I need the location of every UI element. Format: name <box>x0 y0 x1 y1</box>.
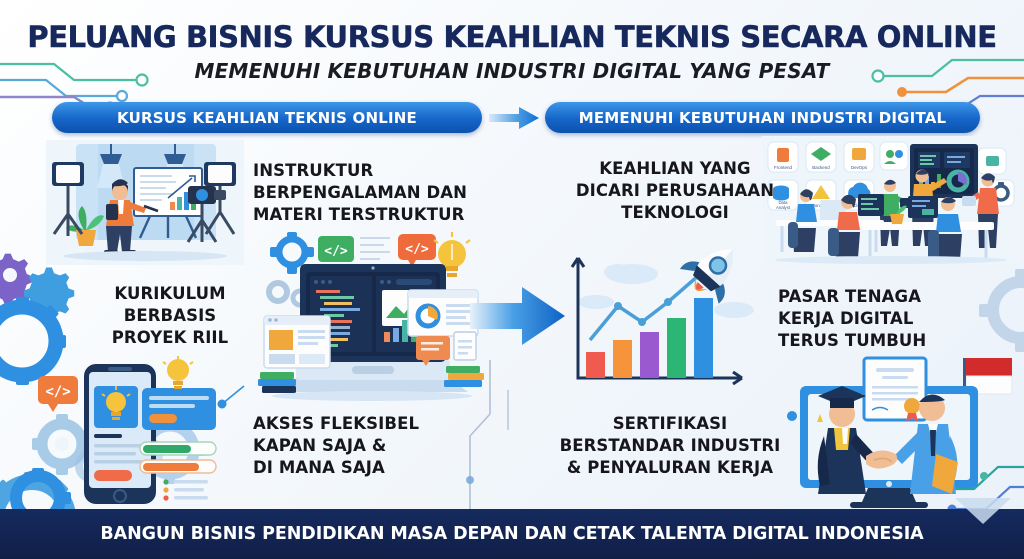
svg-text:</>: </> <box>405 242 429 257</box>
page-subtitle: MEMENUHI KEBUTUHAN INDUSTRI DIGITAL YANG… <box>0 59 1024 83</box>
pill-kursus-keahlian-teknis-online[interactable]: KURSUS KEAHLIAN TEKNIS ONLINE <box>52 102 482 133</box>
svg-text:Analyst: Analyst <box>776 205 791 210</box>
chart-bars <box>586 298 713 378</box>
gear-decor-right <box>975 265 1024 355</box>
callout-keahlian-dicari: KEAHLIAN YANG DICARI PERUSAHAAN TEKNOLOG… <box>575 158 775 224</box>
growth-chart-rocket-illustration <box>556 240 786 400</box>
graduate-handshake-certificate-illustration <box>788 356 1016 508</box>
callout-kurikulum: KURIKULUM BERBASIS PROYEK RIIL <box>95 283 245 349</box>
page-title: PELUANG BISNIS KURSUS KEAHLIAN TEKNIS SE… <box>0 20 1024 54</box>
footer-banner: BANGUN BISNIS PENDIDIKAN MASA DEPAN DAN … <box>0 509 1024 559</box>
footer-text: BANGUN BISNIS PENDIDIKAN MASA DEPAN DAN … <box>100 524 923 544</box>
tech-office-team-illustration: Frontend Backend DevOps Data Analyst Mon… <box>762 136 1020 264</box>
arrow-right-icon <box>489 107 539 129</box>
center-transition-arrow-icon <box>470 285 565 347</box>
online-course-studio-illustration <box>46 140 244 265</box>
svg-text:</>: </> <box>45 384 70 400</box>
callout-pasar-tenaga-kerja: PASAR TENAGA KERJA DIGITAL TERUS TUMBUH <box>778 286 926 352</box>
svg-text:</>: </> <box>324 244 348 259</box>
coding-laptop-dashboard-illustration: </> </> <box>256 232 488 402</box>
callout-sertifikasi: SERTIFIKASI BERSTANDAR INDUSTRI & PENYAL… <box>545 413 795 479</box>
svg-text:DevOps: DevOps <box>851 165 868 170</box>
callout-akses-fleksibel: AKSES FLEKSIBEL KAPAN SAJA & DI MANA SAJ… <box>253 413 419 479</box>
footer-pointer-decor <box>955 498 1015 526</box>
svg-text:Backend: Backend <box>812 165 830 170</box>
pill-memenuhi-kebutuhan-industri-digital[interactable]: MEMENUHI KEBUTUHAN INDUSTRI DIGITAL <box>545 102 980 133</box>
svg-text:Frontend: Frontend <box>774 165 793 170</box>
callout-instruktur: INSTRUKTUR BERPENGALAMAN DAN MATERI TERS… <box>253 160 467 226</box>
mobile-learning-app-illustration: </> <box>30 356 250 511</box>
infographic-canvas: PELUANG BISNIS KURSUS KEAHLIAN TEKNIS SE… <box>0 0 1024 559</box>
